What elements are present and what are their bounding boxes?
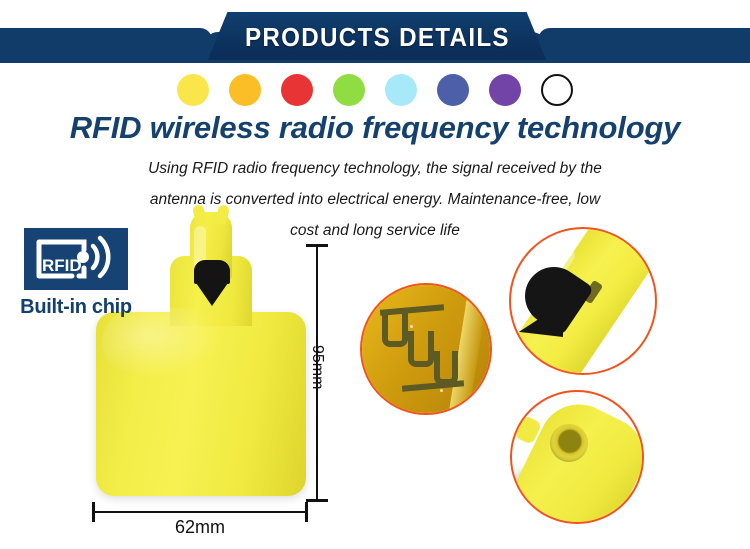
page-header: PRODUCTS DETAILS: [0, 0, 750, 62]
rfid-wave-card-icon: RFID: [32, 234, 120, 284]
swatch-red[interactable]: [281, 74, 313, 106]
antenna-via-top: [410, 325, 413, 328]
height-dimension-label: 95mm: [308, 345, 326, 389]
rfid-chip-badge: RFID: [24, 228, 128, 290]
antenna-trace-1: [382, 311, 408, 347]
header-title-plaque: PRODUCTS DETAILS: [207, 12, 547, 62]
header-underline: [0, 60, 750, 63]
antenna-trace-3: [434, 351, 458, 385]
swatch-green[interactable]: [333, 74, 365, 106]
section-heading: RFID wireless radio frequency technology: [0, 110, 750, 146]
color-swatch-row: [0, 74, 750, 106]
rfid-badge-caption: Built-in chip: [14, 296, 138, 319]
detail-circle-tip: [509, 227, 657, 375]
height-dimension-cap-bottom: [306, 499, 328, 502]
swatch-yellow[interactable]: [177, 74, 209, 106]
antenna-trace-2: [408, 331, 434, 367]
description-line-1: Using RFID radio frequency technology, t…: [90, 153, 660, 184]
svg-text:RFID: RFID: [42, 256, 82, 275]
detail-circle-hole: [510, 390, 644, 524]
swatch-amber[interactable]: [229, 74, 261, 106]
swatch-white[interactable]: [541, 74, 573, 106]
page-title: PRODUCTS DETAILS: [245, 22, 510, 53]
header-bar-left: [0, 28, 212, 62]
swatch-light-blue[interactable]: [385, 74, 417, 106]
antenna-via-bottom: [440, 389, 443, 392]
swatch-purple[interactable]: [489, 74, 521, 106]
header-bar-right: [538, 28, 750, 62]
swatch-indigo[interactable]: [437, 74, 469, 106]
description-line-2: antenna is converted into electrical ene…: [90, 184, 660, 215]
detail-circle-antenna: [360, 283, 492, 415]
width-dimension-label: 62mm: [92, 517, 308, 538]
width-dimension-line: [92, 511, 308, 513]
